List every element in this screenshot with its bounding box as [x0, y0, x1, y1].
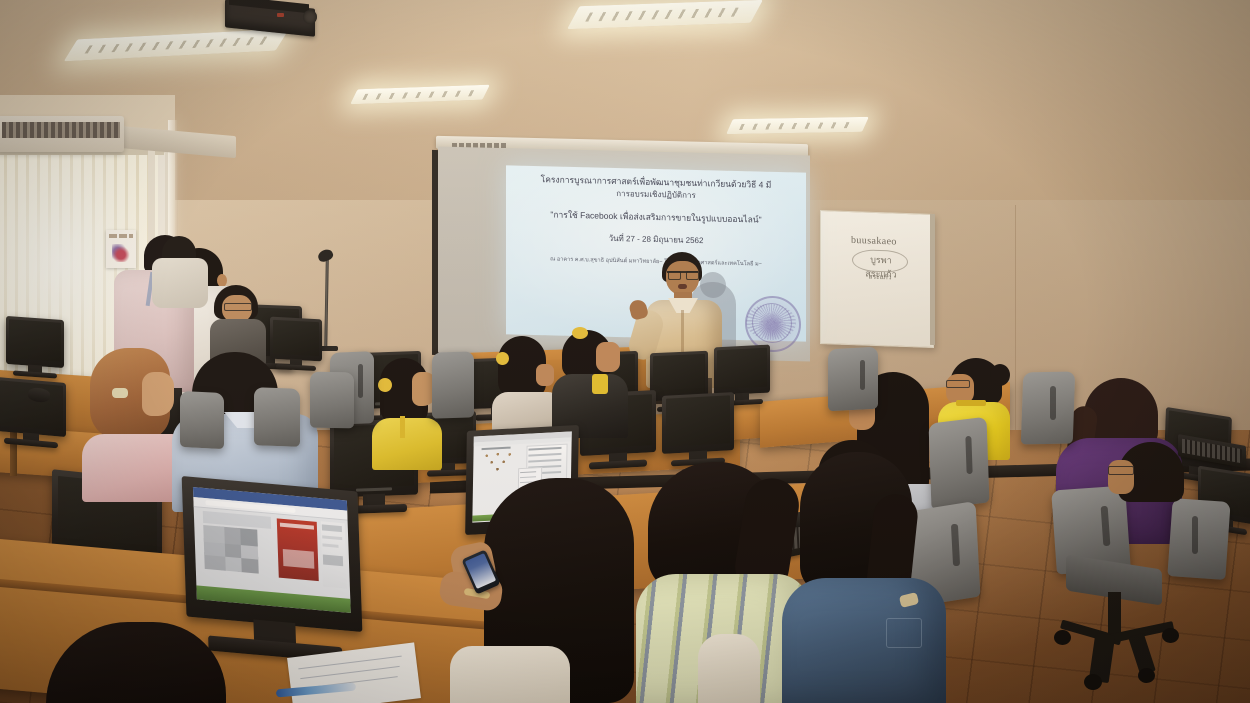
facebook-photo-grid — [203, 525, 273, 587]
glasses-icon — [224, 303, 252, 311]
presenter-glasses-lens-right — [686, 271, 699, 280]
hair — [46, 622, 226, 703]
chair-gas-lift — [1108, 592, 1121, 638]
foreground-student-right-glasses — [1108, 442, 1198, 562]
chair-caster — [1054, 630, 1071, 645]
wall-seam — [1015, 205, 1016, 435]
classroom-photo: buusakaeo บูรพาสระแก้ว สระแก้ว โครงการบู… — [0, 0, 1250, 703]
chair-back-slot — [1050, 386, 1056, 420]
ceiling-light-fixture — [726, 117, 869, 134]
whiteboard-text-line2: บูรพาสระแก้ว — [855, 252, 907, 270]
whiteboard-text-line1: buusakaeo — [851, 235, 913, 248]
face — [142, 372, 174, 416]
glasses-icon — [1108, 466, 1134, 475]
hair-scrunchie-icon — [496, 352, 509, 365]
office-chair-back[interactable] — [1021, 372, 1075, 445]
chair-caster — [1162, 628, 1179, 643]
lanyard — [592, 374, 608, 394]
seated-student-dark-top — [552, 330, 628, 440]
monitor — [714, 345, 770, 396]
facebook-page-monitor[interactable] — [182, 476, 363, 632]
office-chair-back[interactable] — [180, 391, 224, 449]
foreground-student-phone — [440, 478, 655, 703]
university-seal-inner — [752, 303, 792, 344]
hair-clip-icon — [112, 388, 128, 398]
standing-person-shirt — [152, 258, 208, 308]
projector-lens-icon — [303, 10, 317, 24]
chair-back-slot — [358, 364, 363, 398]
office-chair-back[interactable] — [828, 347, 878, 412]
whiteboard-edge — [930, 214, 935, 345]
shirt — [450, 646, 570, 703]
office-chair-back[interactable] — [310, 372, 354, 429]
poster-title-text — [109, 234, 133, 238]
chair-caster — [1138, 668, 1155, 683]
foreground-student-bottom-left — [46, 622, 236, 703]
standing-person-back-row — [152, 236, 212, 306]
cardigan-sleeve — [698, 634, 760, 703]
face — [596, 342, 620, 372]
denim-pocket — [886, 618, 922, 648]
facebook-promo-image — [283, 548, 315, 569]
facebook-sidebar-item — [323, 554, 343, 566]
foreground-student-denim-shirt — [782, 452, 952, 703]
desk-leg — [10, 430, 17, 476]
office-chair-back[interactable] — [254, 387, 300, 447]
shirt — [372, 418, 442, 470]
facebook-page-screen[interactable] — [192, 487, 351, 613]
whiteboard-text-line3: สระแก้ว — [860, 271, 900, 282]
monitor — [0, 377, 66, 437]
chair-caster — [1084, 674, 1102, 690]
hair-scrunchie-icon — [572, 327, 588, 339]
air-conditioner-vents — [2, 122, 120, 138]
chair-back-slot — [860, 360, 865, 390]
presenter-mouth — [678, 284, 687, 289]
projector-led-icon — [277, 13, 284, 17]
lanyard — [400, 416, 405, 438]
monitor — [662, 392, 734, 454]
hair-bun-icon — [990, 364, 1010, 386]
ceiling-projector — [225, 0, 318, 36]
presenter-glasses-lens-left — [668, 271, 681, 280]
hair-scrunchie-icon — [378, 378, 392, 392]
chair-back-slot — [965, 436, 972, 474]
monitor — [6, 316, 64, 368]
node-diagram — [481, 450, 523, 476]
lanyard — [956, 400, 986, 406]
office-chair-back[interactable] — [432, 351, 474, 418]
